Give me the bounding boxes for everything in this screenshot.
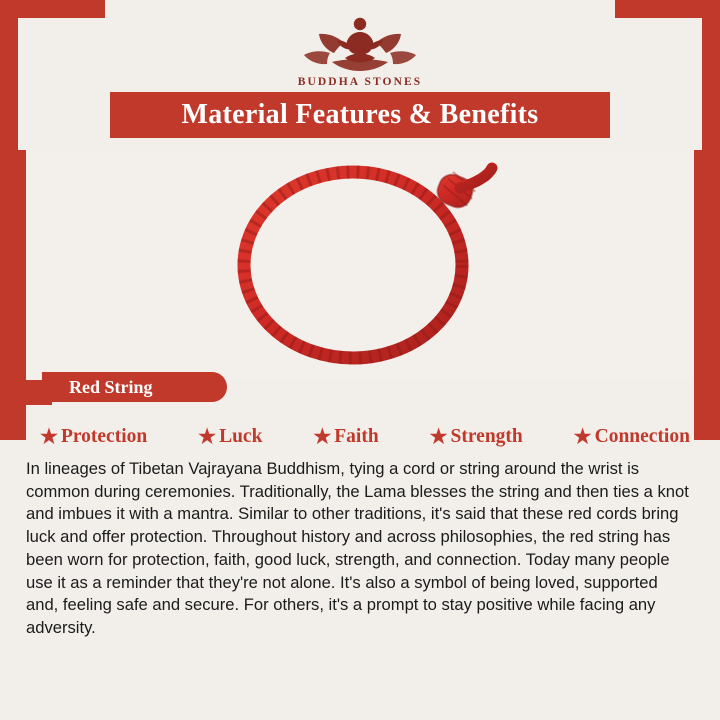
product-image-area [26,150,694,380]
benefit-item-faith: ★ Faith [313,426,378,448]
benefits-row: ★ Protection ★ Luck ★ Faith ★ Strength ★… [40,420,690,454]
product-label: Red String [69,377,153,398]
star-icon: ★ [313,427,331,447]
benefit-label: Faith [334,426,378,448]
benefit-label: Protection [61,426,147,448]
benefit-item-luck: ★ Luck [198,426,262,448]
red-braided-string-bracelet [220,158,500,368]
benefit-item-protection: ★ Protection [40,426,147,448]
star-icon: ★ [40,427,58,447]
product-label-tab: Red String [42,372,227,402]
brand-name: BUDDHA STONES [298,76,423,88]
star-icon: ★ [430,427,448,447]
infographic-page: BUDDHA STONES Material Features & Benefi… [0,0,720,720]
star-icon: ★ [198,427,216,447]
benefit-item-connection: ★ Connection [574,426,690,448]
benefit-item-strength: ★ Strength [430,426,523,448]
title-banner: Material Features & Benefits [110,92,610,138]
benefit-label: Connection [595,426,690,448]
benefit-label: Luck [219,426,262,448]
benefit-label: Strength [451,426,523,448]
description-text: In lineages of Tibetan Vajrayana Buddhis… [26,458,694,640]
frame-accent-right-band [694,150,720,440]
star-icon: ★ [574,427,592,447]
brand-logo: BUDDHA STONES [0,12,720,88]
lotus-meditation-figure-icon [300,12,420,74]
page-title: Material Features & Benefits [182,99,539,131]
